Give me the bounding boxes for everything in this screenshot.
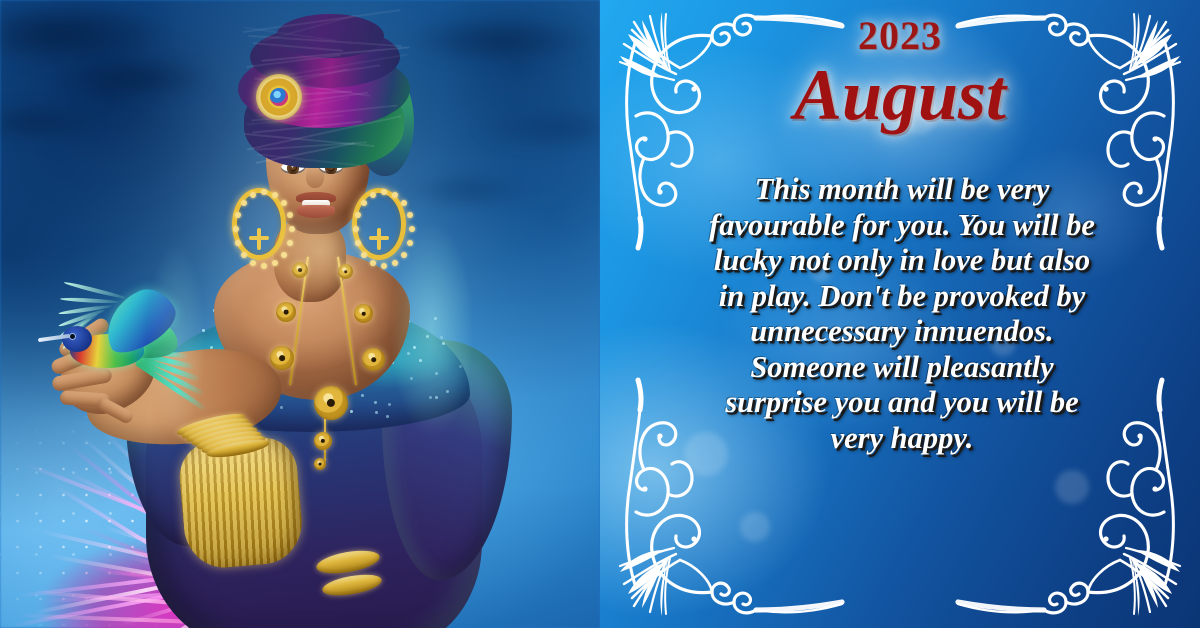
hummingbird <box>44 286 194 396</box>
year-label: 2023 <box>600 16 1200 56</box>
bangle <box>315 547 382 578</box>
fortune-teller-figure <box>0 0 600 628</box>
bangle <box>321 571 383 599</box>
hummingbird-head <box>62 326 92 352</box>
hummingbird-crest-feather <box>60 297 119 304</box>
hummingbird-eye <box>70 334 75 339</box>
text-panel: 2023 August This month will be very favo… <box>600 0 1200 628</box>
heading-block: 2023 August <box>600 16 1200 134</box>
month-title: August <box>600 58 1200 134</box>
horoscope-card: 2023 August This month will be very favo… <box>0 0 1200 628</box>
horoscope-body-text: This month will be very favourable for y… <box>708 172 1096 456</box>
artwork-panel <box>0 0 600 628</box>
